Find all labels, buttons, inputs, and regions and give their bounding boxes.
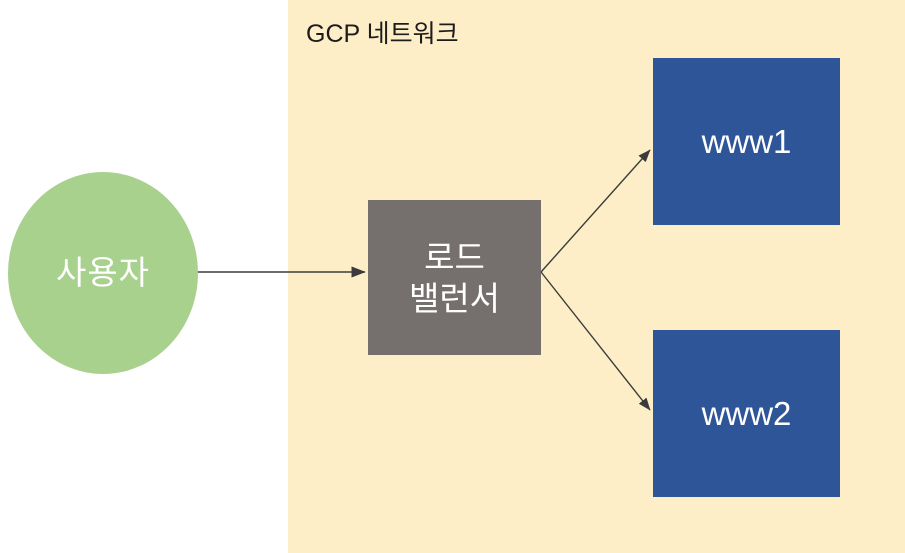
node-user[interactable]: 사용자 — [8, 172, 198, 374]
node-www2-label: www2 — [702, 395, 792, 433]
node-www1-label: www1 — [702, 123, 792, 161]
node-www2[interactable]: www2 — [653, 330, 840, 497]
node-load-balancer-label: 로드 밸런서 — [409, 237, 500, 319]
gcp-network-region-label: GCP 네트워크 — [306, 19, 459, 49]
node-user-label: 사용자 — [56, 254, 150, 292]
diagram-canvas: GCP 네트워크 사용자 로드 밸런서 www1 www2 — [0, 0, 905, 553]
node-www1[interactable]: www1 — [653, 58, 840, 225]
node-load-balancer[interactable]: 로드 밸런서 — [368, 200, 541, 355]
